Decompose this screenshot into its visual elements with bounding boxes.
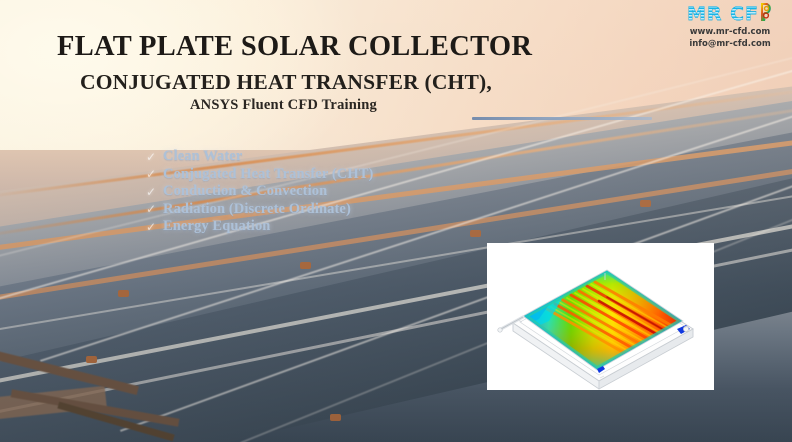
- list-item-label: Conjugated Heat Transfer (CHT): [163, 166, 373, 183]
- list-item: ✓ Conjugated Heat Transfer (CHT): [146, 166, 476, 184]
- list-item-label: Energy Equation: [163, 218, 270, 235]
- logo-website[interactable]: www.mr-cfd.com: [672, 27, 788, 38]
- feature-bullet-list: ✓ Clean Water ✓ Conjugated Heat Transfer…: [146, 148, 476, 236]
- list-item: ✓ Radiation (Discrete Ordinate): [146, 201, 476, 219]
- logo-mark-text: MR CF: [687, 4, 759, 24]
- page-subtitle-secondary: ANSYS Fluent CFD Training: [190, 97, 377, 114]
- cfd-result-inset-panel: [487, 243, 714, 390]
- check-icon: ✓: [146, 221, 163, 233]
- cfd-contour-figure: [487, 243, 714, 390]
- solar-collector-contour-svg: [487, 243, 714, 390]
- list-item-label: Conduction & Convection: [163, 183, 327, 200]
- logo-d-icon: [760, 3, 773, 26]
- list-item: ✓ Energy Equation: [146, 218, 476, 236]
- check-icon: ✓: [146, 151, 163, 163]
- brand-logo[interactable]: MR CF www.mr-cfd.com info@mr-cfd.com: [672, 3, 788, 43]
- list-item: ✓ Clean Water: [146, 148, 476, 166]
- page-title: FLAT PLATE SOLAR COLLECTOR: [57, 31, 532, 63]
- presentation-slide: FLAT PLATE SOLAR COLLECTOR CONJUGATED HE…: [0, 0, 792, 442]
- logo-wordmark: MR CF: [672, 3, 788, 26]
- check-icon: ✓: [146, 168, 163, 180]
- check-icon: ✓: [146, 186, 163, 198]
- page-subtitle: CONJUGATED HEAT TRANSFER (CHT),: [80, 70, 492, 95]
- list-item: ✓ Conduction & Convection: [146, 183, 476, 201]
- check-icon: ✓: [146, 203, 163, 215]
- title-divider-rule: [472, 117, 652, 120]
- list-item-label: Radiation (Discrete Ordinate): [163, 201, 351, 218]
- list-item-label: Clean Water: [163, 148, 242, 165]
- logo-email[interactable]: info@mr-cfd.com: [672, 39, 788, 50]
